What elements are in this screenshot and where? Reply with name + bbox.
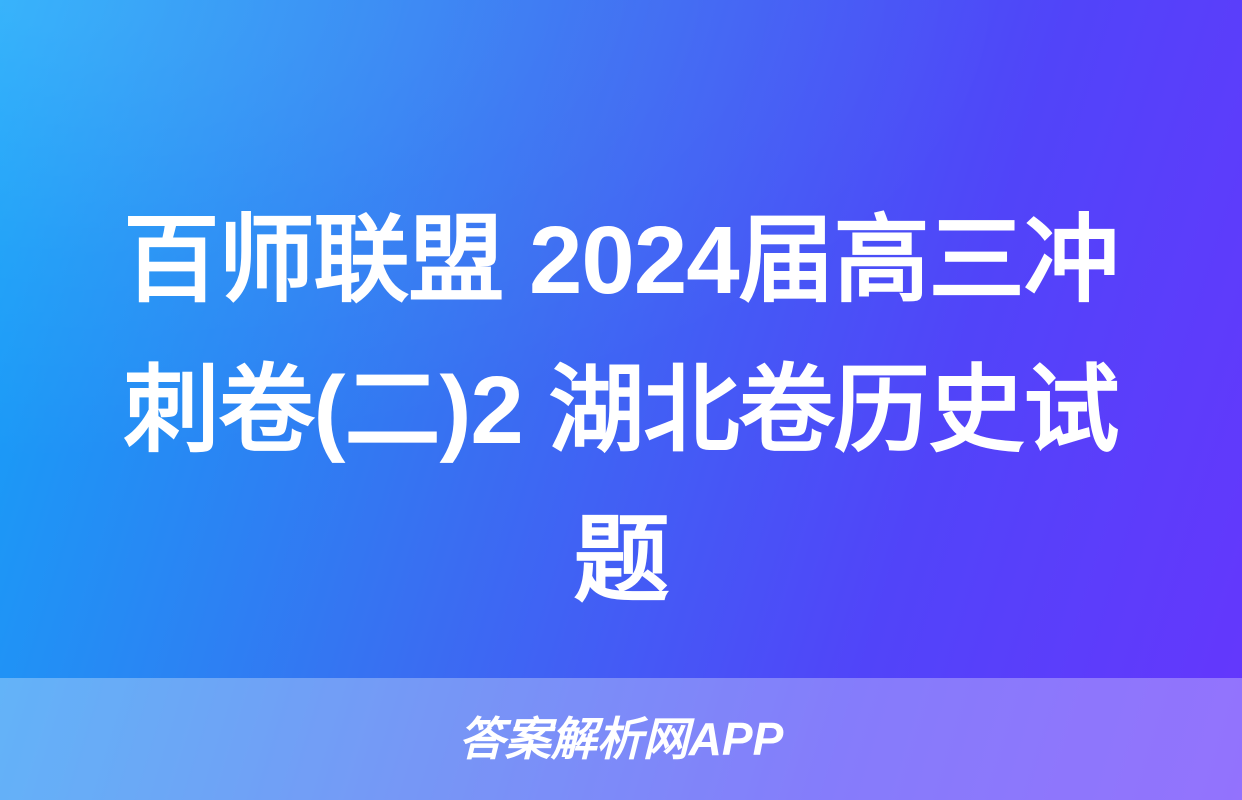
title-line-3: 题 bbox=[55, 486, 1187, 636]
title-line-1: 百师联盟 2024届高三冲 bbox=[55, 186, 1187, 336]
page-title: 百师联盟 2024届高三冲 刺卷(二)2 湖北卷历史试 题 bbox=[0, 186, 1242, 636]
footer-watermark-band: 答案解析网APP bbox=[0, 678, 1242, 800]
poster-card: 百师联盟 2024届高三冲 刺卷(二)2 湖北卷历史试 题 答案解析网APP bbox=[0, 0, 1242, 800]
watermark-label: 答案解析网APP bbox=[459, 716, 784, 762]
title-line-2: 刺卷(二)2 湖北卷历史试 bbox=[55, 336, 1187, 486]
